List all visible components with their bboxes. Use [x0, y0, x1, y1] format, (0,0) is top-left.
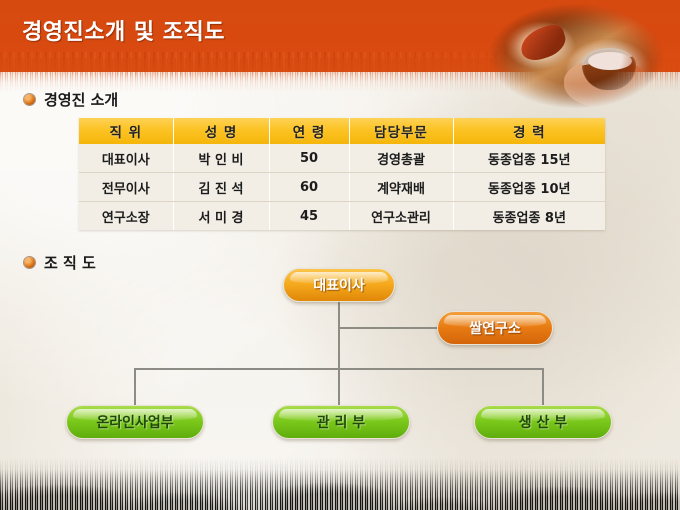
column-header-name: 성 명 [173, 118, 269, 144]
cell-duty: 연구소관리 [349, 202, 453, 231]
bullet-orb-icon [24, 94, 35, 105]
column-header-career: 경 력 [453, 118, 605, 144]
cell-career: 동종업종 10년 [453, 173, 605, 202]
cell-name: 박 인 비 [173, 144, 269, 173]
cell-name: 김 진 석 [173, 173, 269, 202]
org-node-manage-label: 관 리 부 [317, 412, 365, 432]
cell-duty: 계약재배 [349, 173, 453, 202]
section-heading-executives: 경영진 소개 [24, 89, 118, 110]
org-node-lab-label: 쌀연구소 [469, 318, 521, 338]
page-title: 경영진소개 및 조직도 [22, 14, 225, 46]
cell-age: 60 [269, 173, 349, 202]
table-header-row: 직 위 성 명 연 령 담당부문 경 력 [79, 118, 605, 144]
presentation-slide: 경영진소개 및 조직도 경영진 소개 직 위 성 명 연 령 담당부문 경 력 [0, 0, 680, 510]
photo-pepper-detail [516, 22, 569, 65]
executives-table: 직 위 성 명 연 령 담당부문 경 력 대표이사 박 인 비 50 경영총괄 … [79, 118, 605, 230]
cell-duty: 경영총괄 [349, 144, 453, 173]
connector-lab-horizontal [338, 327, 438, 329]
organization-chart: 대표이사 쌀연구소 온라인사업부 관 리 부 생 산 부 [0, 245, 680, 460]
org-node-management-department[interactable]: 관 리 부 [272, 405, 410, 439]
cell-name: 서 미 경 [173, 202, 269, 231]
table-row: 대표이사 박 인 비 50 경영총괄 동종업종 15년 [79, 144, 605, 173]
column-header-duty: 담당부문 [349, 118, 453, 144]
cell-position: 연구소장 [79, 202, 173, 231]
table-row: 연구소장 서 미 경 45 연구소관리 동종업종 8년 [79, 202, 605, 231]
cell-position: 전무이사 [79, 173, 173, 202]
cell-career: 동종업종 15년 [453, 144, 605, 173]
cell-position: 대표이사 [79, 144, 173, 173]
org-node-ceo-label: 대표이사 [313, 275, 365, 295]
org-node-production-department[interactable]: 생 산 부 [474, 405, 612, 439]
connector-production-vertical [542, 368, 544, 405]
food-photo-decoration [486, 2, 666, 110]
section-heading-executives-label: 경영진 소개 [44, 89, 118, 110]
column-header-age: 연 령 [269, 118, 349, 144]
connector-division-bus [134, 368, 542, 370]
org-node-online-label: 온라인사업부 [96, 412, 173, 432]
org-node-rice-research-institute[interactable]: 쌀연구소 [437, 311, 553, 345]
connector-ceo-vertical [338, 300, 340, 405]
org-node-ceo[interactable]: 대표이사 [283, 268, 395, 302]
table-row: 전무이사 김 진 석 60 계약재배 동종업종 10년 [79, 173, 605, 202]
org-node-online-business-division[interactable]: 온라인사업부 [66, 405, 204, 439]
org-node-prod-label: 생 산 부 [519, 412, 567, 432]
cell-career: 동종업종 8년 [453, 202, 605, 231]
cell-age: 50 [269, 144, 349, 173]
connector-online-vertical [134, 368, 136, 405]
footer-brush-edge [0, 458, 680, 510]
cell-age: 45 [269, 202, 349, 231]
photo-rice-detail [588, 52, 632, 70]
column-header-position: 직 위 [79, 118, 173, 144]
